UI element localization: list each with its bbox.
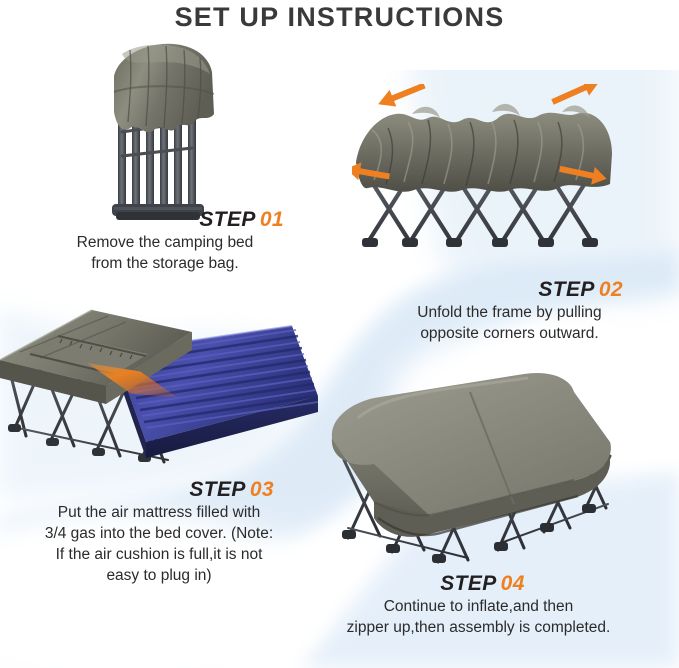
frame-feet xyxy=(362,238,598,247)
step-02-line-1: Unfold the frame by pulling xyxy=(350,302,669,323)
artwork-unfolding-bed-frame xyxy=(352,84,616,264)
step-03-description: Put the air mattress filled with 3/4 gas… xyxy=(0,502,312,586)
step-04-label: STEP xyxy=(440,572,496,595)
step-03-number: 03 xyxy=(250,478,274,501)
step-01-heading: STEP01 xyxy=(0,208,312,232)
page-title: SET UP INSTRUCTIONS xyxy=(0,2,679,33)
step-01-block: STEP01 Remove the camping bed from the s… xyxy=(0,208,312,274)
step-04-heading: STEP04 xyxy=(268,572,679,596)
step-03-line-1: Put the air mattress filled with xyxy=(6,502,312,523)
step-04-block: STEP04 Continue to inflate,and then zipp… xyxy=(268,572,679,638)
step-02-line-2: opposite corners outward. xyxy=(350,323,669,344)
step-02-heading: STEP02 xyxy=(350,278,679,302)
step-02-description: Unfold the frame by pulling opposite cor… xyxy=(350,302,679,344)
step-03-line-2: 3/4 gas into the bed cover. (Note: xyxy=(6,523,312,544)
step-01-line-1: Remove the camping bed xyxy=(18,232,312,253)
step-01-line-2: from the storage bag. xyxy=(18,253,312,274)
step-02-block: STEP02 Unfold the frame by pulling oppos… xyxy=(350,278,679,344)
step-03-label: STEP xyxy=(189,478,245,501)
step-03-line-3: If the air cushion is full,it is not xyxy=(6,544,312,565)
step-02-number: 02 xyxy=(599,278,623,301)
step-02-label: STEP xyxy=(538,278,594,301)
artwork-mattress-into-cover xyxy=(0,300,326,482)
step-04-line-1: Continue to inflate,and then xyxy=(278,596,679,617)
step-01-label: STEP xyxy=(199,208,255,231)
crumpled-fabric xyxy=(356,104,612,192)
step-01-description: Remove the camping bed from the storage … xyxy=(0,232,312,274)
step-03-heading: STEP03 xyxy=(0,478,312,502)
step-04-number: 04 xyxy=(501,572,525,595)
artwork-folded-camping-bed xyxy=(96,36,228,228)
step-01-number: 01 xyxy=(260,208,284,231)
step-04-description: Continue to inflate,and then zipper up,t… xyxy=(268,596,679,638)
instruction-poster: SET UP INSTRUCTIONS xyxy=(0,0,679,668)
step-03-block: STEP03 Put the air mattress filled with … xyxy=(0,478,312,586)
folded-bed-fabric xyxy=(114,44,214,133)
step-04-line-2: zipper up,then assembly is completed. xyxy=(278,617,679,638)
artwork-completed-bed xyxy=(318,368,614,572)
step-03-line-4: easy to plug in) xyxy=(6,565,312,586)
inflated-bed-cover xyxy=(332,373,611,537)
